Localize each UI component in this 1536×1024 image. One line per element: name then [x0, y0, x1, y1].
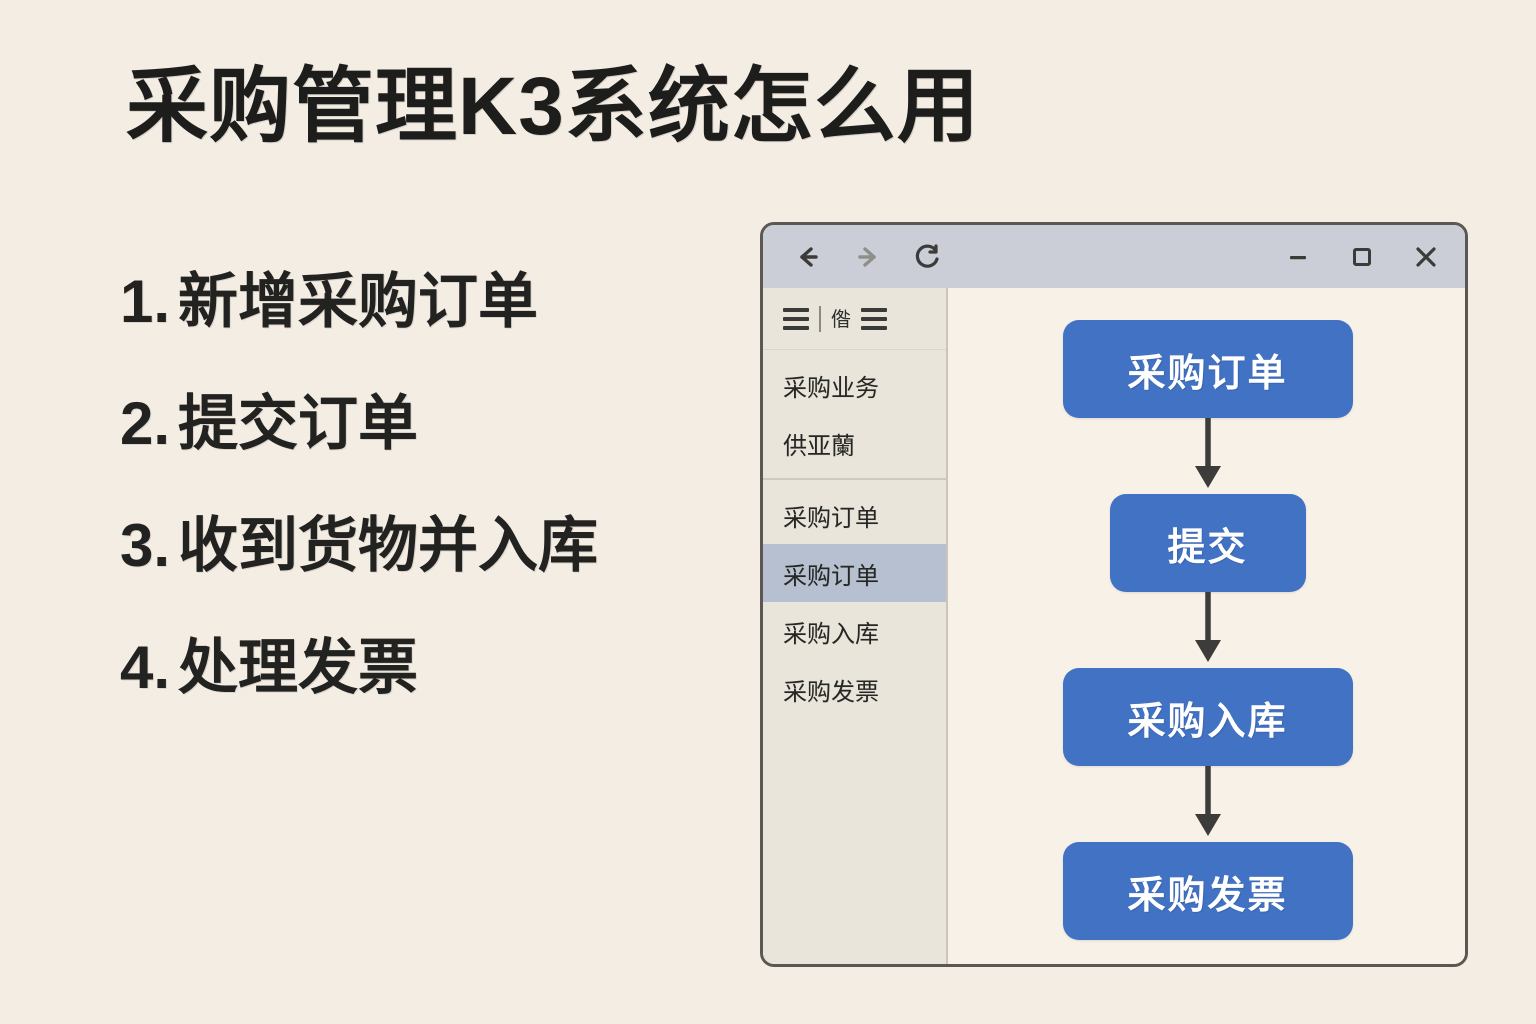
- window-controls: [1285, 244, 1439, 270]
- step-number: 2.: [120, 390, 170, 457]
- flow-arrow-icon: [1191, 766, 1225, 842]
- step-number: 4.: [120, 634, 170, 701]
- close-icon[interactable]: [1413, 244, 1439, 270]
- list-item: 2.提交订单: [120, 394, 770, 454]
- list-item: 3.收到货物并入库: [120, 516, 770, 576]
- sidebar: 偺 采购业务 供亚蘭 采购订单 采购订单 采购入库 采购发票: [763, 288, 948, 964]
- sidebar-group-two: 采购订单 采购订单 采购入库 采购发票: [763, 480, 946, 718]
- flow-arrow-icon: [1191, 592, 1225, 668]
- browser-titlebar: [763, 225, 1465, 288]
- sidebar-header-divider: [819, 306, 821, 332]
- sidebar-item-purchase-invoice[interactable]: 采购发票: [763, 660, 946, 718]
- hamburger-menu-icon[interactable]: [783, 308, 809, 330]
- step-number: 3.: [120, 512, 170, 579]
- steps-list: 1.新增采购订单 2.提交订单 3.收到货物并入库 4.处理发票: [120, 272, 770, 760]
- list-item: 1.新增采购订单: [120, 272, 770, 332]
- sidebar-header: 偺: [763, 288, 946, 350]
- page-title: 采购管理K3系统怎么用: [126, 62, 980, 152]
- flow-node-purchase-invoice[interactable]: 采购发票: [1063, 842, 1353, 940]
- sidebar-item-purchase-receipt[interactable]: 采购入库: [763, 602, 946, 660]
- step-number: 1.: [120, 268, 170, 335]
- step-text: 处理发票: [178, 634, 418, 701]
- sidebar-header-glyph: 偺: [831, 309, 851, 329]
- forward-arrow-icon[interactable]: [851, 240, 885, 274]
- sidebar-item-procurement-business[interactable]: 采购业务: [763, 356, 946, 414]
- sidebar-item-supplier[interactable]: 供亚蘭: [763, 414, 946, 472]
- step-text: 提交订单: [178, 390, 418, 457]
- sidebar-item-purchase-order-selected[interactable]: 采购订单: [763, 544, 946, 602]
- flow-node-purchase-receipt[interactable]: 采购入库: [1063, 668, 1353, 766]
- sidebar-item-purchase-order[interactable]: 采购订单: [763, 486, 946, 544]
- navigation-buttons: [791, 240, 945, 274]
- list-lines-icon[interactable]: [861, 308, 887, 330]
- step-text: 收到货物并入库: [178, 512, 598, 579]
- back-arrow-icon[interactable]: [791, 240, 825, 274]
- content-area: 采购订单 提交 采购入库 采: [950, 288, 1465, 964]
- flowchart: 采购订单 提交 采购入库 采: [950, 320, 1465, 940]
- step-text: 新增采购订单: [178, 268, 538, 335]
- flow-node-submit[interactable]: 提交: [1110, 494, 1306, 592]
- maximize-icon[interactable]: [1349, 244, 1375, 270]
- sidebar-group-one: 采购业务 供亚蘭: [763, 350, 946, 472]
- flow-arrow-icon: [1191, 418, 1225, 494]
- flow-node-purchase-order[interactable]: 采购订单: [1063, 320, 1353, 418]
- minimize-icon[interactable]: [1285, 244, 1311, 270]
- list-item: 4.处理发票: [120, 638, 770, 698]
- reload-icon[interactable]: [911, 240, 945, 274]
- browser-window: 偺 采购业务 供亚蘭 采购订单 采购订单 采购入库 采购发票 采购订单: [760, 222, 1468, 967]
